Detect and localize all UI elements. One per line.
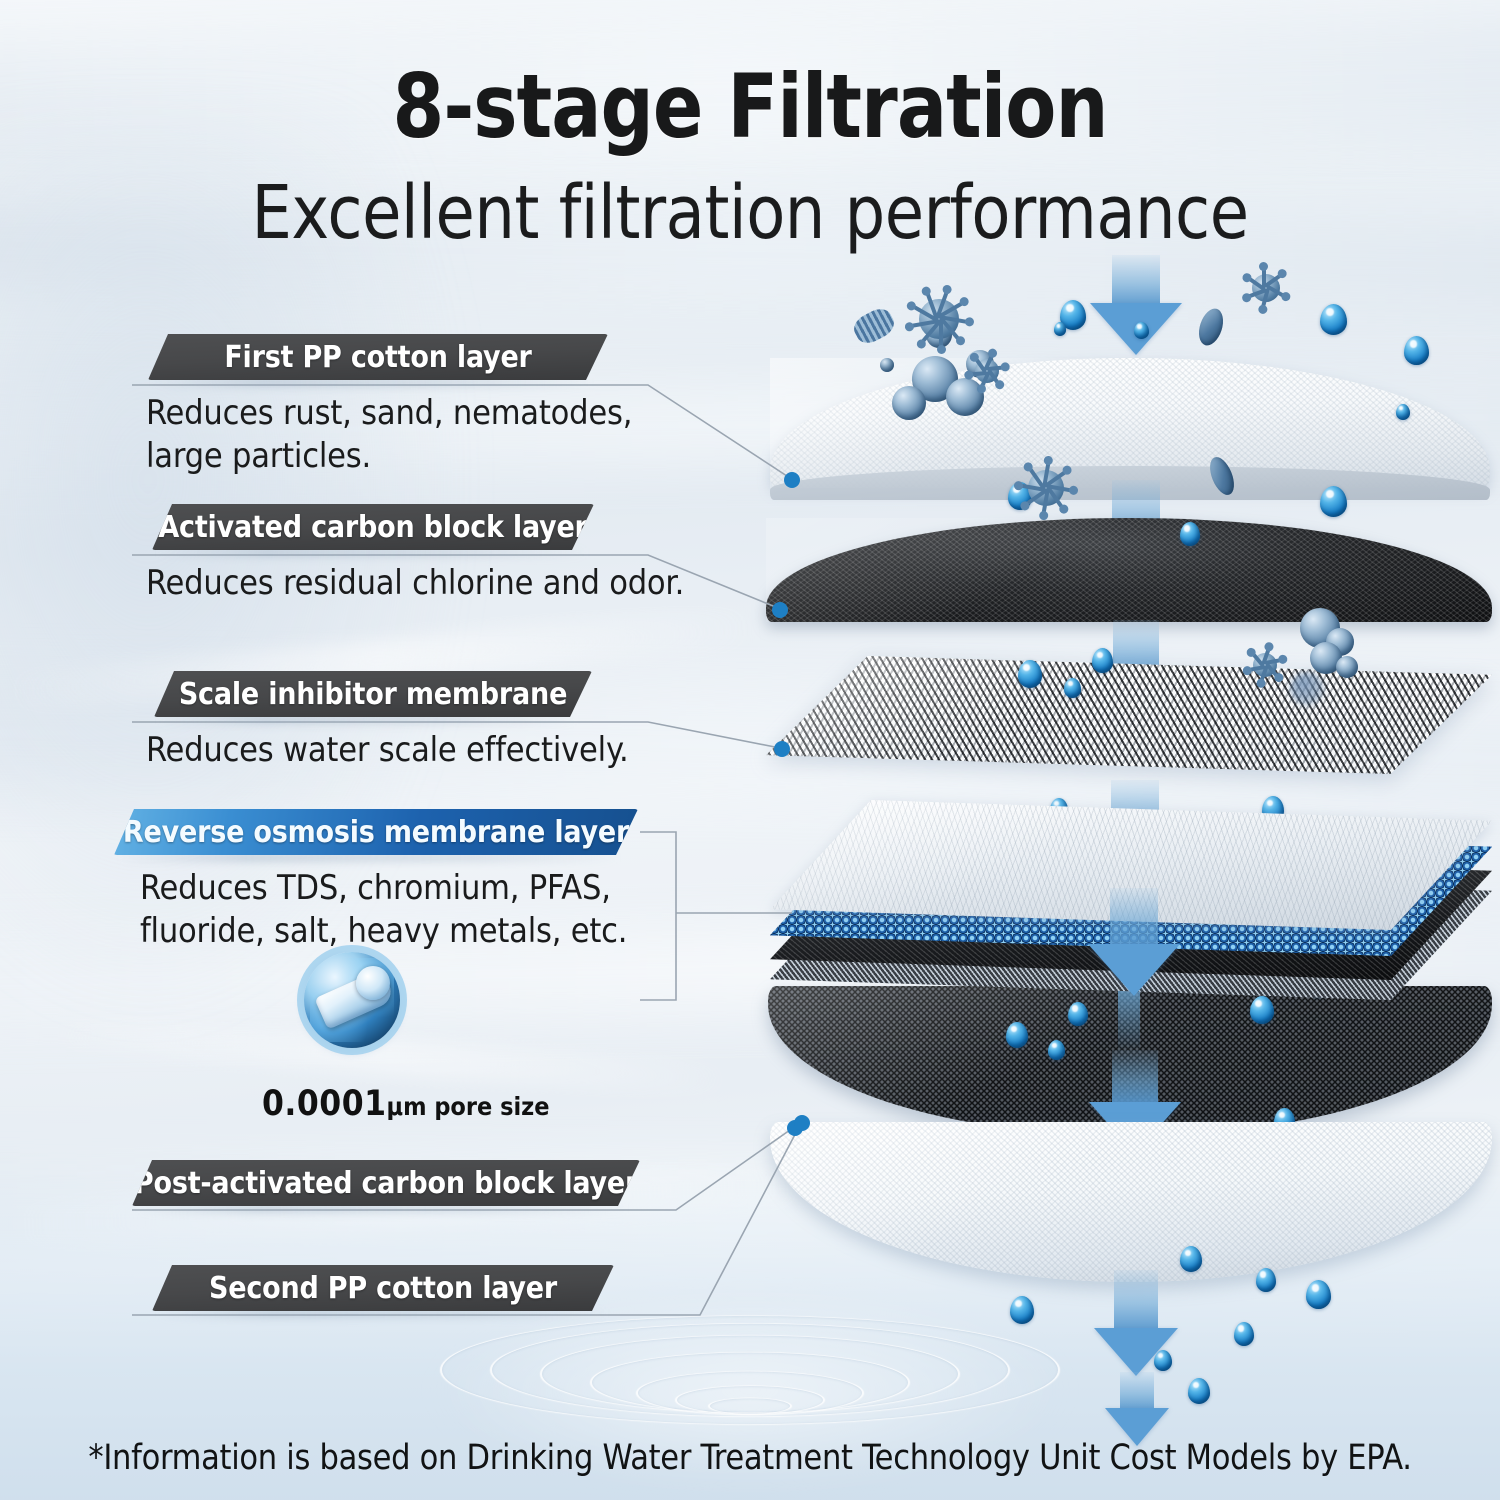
- badge-scale-inhibitor-membrane[interactable]: Scale inhibitor membrane: [154, 671, 592, 717]
- desc-reverse-osmosis-membrane-layer: Reduces TDS, chromium, PFAS, fluoride, s…: [140, 867, 760, 953]
- badge-label: Post-activated carbon block layer: [134, 1166, 638, 1201]
- badge-label: Scale inhibitor membrane: [179, 677, 567, 712]
- badge-second-pp-cotton-layer[interactable]: Second PP cotton layer: [152, 1265, 614, 1311]
- badge-label: First PP cotton layer: [224, 340, 531, 375]
- ro-membrane-icon: [304, 952, 400, 1048]
- pore-size-unit: μm pore size: [387, 1092, 550, 1121]
- badge-label: Activated carbon block layer: [158, 510, 587, 545]
- badge-post-activated-carbon-block-layer[interactable]: Post-activated carbon block layer: [132, 1160, 640, 1206]
- badge-label: Reverse osmosis membrane layer: [123, 815, 629, 850]
- labels-column: First PP cotton layer Reduces rust, sand…: [0, 0, 1500, 1500]
- badge-first-pp-cotton-layer[interactable]: First PP cotton layer: [148, 334, 608, 380]
- desc-activated-carbon-block-layer: Reduces residual chlorine and odor.: [146, 562, 746, 605]
- desc-scale-inhibitor-membrane: Reduces water scale effectively.: [146, 729, 746, 772]
- desc-first-pp-cotton-layer: Reduces rust, sand, nematodes, large par…: [146, 392, 706, 478]
- badge-label: Second PP cotton layer: [209, 1271, 557, 1306]
- badge-reverse-osmosis-membrane-layer[interactable]: Reverse osmosis membrane layer: [114, 809, 638, 855]
- badge-activated-carbon-block-layer[interactable]: Activated carbon block layer: [152, 504, 594, 550]
- pore-size-value: 0.0001: [262, 1084, 387, 1124]
- footer-note: *Information is based on Drinking Water …: [23, 1438, 1478, 1478]
- pore-size-caption: 0.0001μm pore size: [262, 1084, 550, 1124]
